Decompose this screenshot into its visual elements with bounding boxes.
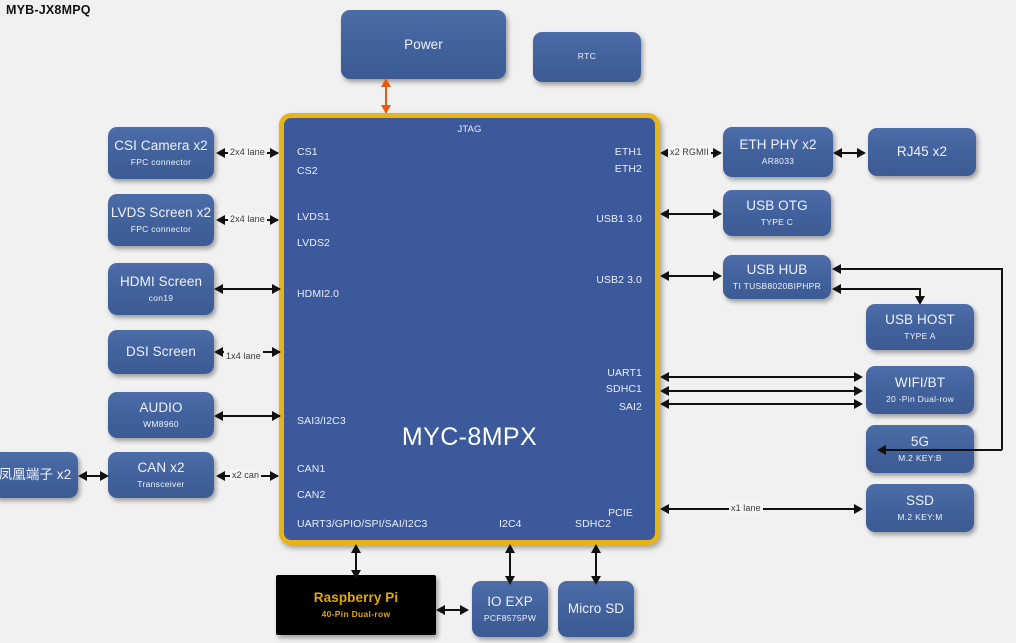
- link-pcie-ssd-label: x1 lane: [729, 502, 763, 514]
- link-hdmi-arrow-right: [272, 284, 281, 294]
- soc-pin-lvds1: LVDS1: [297, 211, 330, 223]
- link-can-arrow-left: [216, 471, 225, 481]
- block-usb-otg-label: USB OTG: [746, 198, 807, 214]
- block-usb-otg-sublabel: TYPE C: [761, 217, 794, 228]
- link-sai2-wifi-arrow-right: [854, 399, 863, 409]
- link-sdhc1-wifi-arrow-right: [854, 386, 863, 396]
- link-csi-label: 2x4 lane: [228, 146, 267, 158]
- block-raspberry-pi[interactable]: Raspberry Pi 40-Pin Dual-row: [276, 575, 436, 635]
- link-hub-host-arrow-left: [832, 284, 841, 294]
- link-pcie-ssd-line: [668, 508, 860, 510]
- block-eth-phy-label: ETH PHY x2: [739, 137, 816, 153]
- link-hdmi-arrow-left: [214, 284, 223, 294]
- link-phoenix-arrow-right: [100, 471, 109, 481]
- link-eth-label: x2 RGMII: [668, 146, 711, 158]
- link-hub-host-arrow-down: [915, 296, 925, 305]
- link-hub-host-hline: [840, 288, 920, 290]
- block-rj45-label: RJ45 x2: [897, 144, 947, 160]
- block-usb-host-sublabel: TYPE A: [904, 331, 936, 342]
- soc-pin-eth2: ETH2: [615, 163, 642, 175]
- link-lvds-label: 2x4 lane: [228, 213, 267, 225]
- block-5g-modem-label: 5G: [911, 434, 929, 450]
- block-csi-camera[interactable]: CSI Camera x2 FPC connector: [108, 127, 214, 179]
- link-hub-5g-vline: [1001, 268, 1003, 450]
- block-can-label: CAN x2: [137, 460, 184, 476]
- block-can-sublabel: Transceiver: [137, 479, 184, 490]
- block-io-exp-sublabel: PCF8575PW: [484, 613, 536, 624]
- link-hub-5g-hbot: [885, 449, 1002, 451]
- soc-pin-sdhc2: SDHC2: [575, 518, 611, 530]
- block-io-exp-label: IO EXP: [487, 594, 533, 610]
- block-usb-hub[interactable]: USB HUB TI TUSB8020BIPHPR: [723, 255, 831, 299]
- soc-pin-sdhc1: SDHC1: [606, 383, 642, 395]
- link-rpi-arrow-up: [351, 544, 361, 553]
- link-usb-otg-arrow-left: [660, 209, 669, 219]
- block-eth-phy-sublabel: AR8033: [762, 156, 795, 167]
- link-hub-5g-htop: [840, 268, 1003, 270]
- link-dsi-arrow-left: [214, 347, 223, 357]
- soc-pin-lvds2: LVDS2: [297, 237, 330, 249]
- link-sai2-wifi-arrow-left: [660, 399, 669, 409]
- link-audio-arrow-left: [214, 411, 223, 421]
- link-uart1-wifi-line: [668, 376, 860, 378]
- block-rtc[interactable]: RTC: [533, 32, 641, 82]
- block-wifi-bt[interactable]: WIFI/BT 20 -Pin Dual-row: [866, 366, 974, 414]
- block-phoenix-terminal-label: 凤凰端子 x2: [0, 467, 71, 483]
- link-lvds-arrow-right: [270, 215, 279, 225]
- block-hdmi-screen[interactable]: HDMI Screen con19: [108, 263, 214, 315]
- soc-pin-usb1: USB1 3.0: [596, 213, 642, 225]
- soc-pin-pcie: PCIE: [608, 507, 633, 519]
- block-dsi-screen[interactable]: DSI Screen: [108, 330, 214, 374]
- link-usb-hub-arrow-left: [660, 271, 669, 281]
- link-hub-5g-arrow-left: [832, 264, 841, 274]
- link-pcie-ssd-arrow-right: [854, 504, 863, 514]
- soc-pin-uart1: UART1: [607, 367, 642, 379]
- block-lvds-screen-sublabel: FPC connector: [131, 224, 192, 235]
- link-audio-arrow-right: [272, 411, 281, 421]
- link-ioexp-arrow-down: [505, 576, 515, 585]
- block-usb-host[interactable]: USB HOST TYPE A: [866, 304, 974, 350]
- block-usb-otg[interactable]: USB OTG TYPE C: [723, 190, 831, 236]
- soc-pin-can1: CAN1: [297, 463, 325, 475]
- block-ssd-label: SSD: [906, 493, 934, 509]
- block-lvds-screen-label: LVDS Screen x2: [111, 205, 211, 221]
- link-rpi-ioexp-arrow-left: [436, 605, 445, 615]
- block-wifi-bt-sublabel: 20 -Pin Dual-row: [886, 394, 954, 405]
- block-audio-sublabel: WM8960: [143, 419, 179, 430]
- link-csi-arrow-left: [216, 148, 225, 158]
- soc-pin-can2: CAN2: [297, 489, 325, 501]
- link-dsi-arrow-right: [272, 347, 281, 357]
- soc-pin-jtag: JTAG: [284, 124, 655, 135]
- page-title: MYB-JX8MPQ: [6, 3, 91, 17]
- block-rj45[interactable]: RJ45 x2: [868, 128, 976, 176]
- link-microsd-arrow-up: [591, 544, 601, 553]
- link-can-label: x2 can: [230, 469, 261, 481]
- link-microsd-arrow-down: [591, 576, 601, 585]
- link-ioexp-arrow-up: [505, 544, 515, 553]
- block-raspberry-pi-label: Raspberry Pi: [314, 590, 399, 606]
- soc-module[interactable]: JTAG CS1 CS2 LVDS1 LVDS2 HDMI2.0 SAI3/I2…: [279, 113, 660, 545]
- link-uart1-wifi-arrow-left: [660, 372, 669, 382]
- link-hub-5g-arrow-in: [877, 445, 886, 455]
- link-phoenix-arrow-left: [78, 471, 87, 481]
- link-pcie-ssd-arrow-left: [660, 504, 669, 514]
- soc-pin-cs1: CS1: [297, 146, 318, 158]
- soc-pin-sai2: SAI2: [619, 401, 642, 413]
- block-rtc-label: RTC: [578, 52, 597, 62]
- block-audio-label: AUDIO: [139, 400, 182, 416]
- block-micro-sd-label: Micro SD: [568, 601, 624, 617]
- diagram-canvas: MYB-JX8MPQ Power RTC JTAG CS1 CS2 LVDS1 …: [0, 0, 1016, 643]
- block-power[interactable]: Power: [341, 10, 506, 79]
- block-audio[interactable]: AUDIO WM8960: [108, 392, 214, 438]
- block-power-label: Power: [404, 37, 443, 53]
- link-sai2-wifi-line: [668, 403, 860, 405]
- block-phoenix-terminal[interactable]: 凤凰端子 x2: [0, 452, 78, 498]
- soc-pin-hdmi: HDMI2.0: [297, 288, 339, 300]
- link-dsi-label: 1x4 lane: [224, 350, 263, 362]
- link-eth-arrow-right: [713, 148, 722, 158]
- link-rj45-arrow-left: [833, 148, 842, 158]
- block-5g-modem-sublabel: M.2 KEY:B: [898, 453, 942, 464]
- link-csi-arrow-right: [270, 148, 279, 158]
- soc-pin-i2c4: I2C4: [499, 518, 522, 530]
- soc-pin-uart3: UART3/GPIO/SPI/SAI/I2C3: [297, 518, 427, 530]
- link-sdhc1-wifi-arrow-left: [660, 386, 669, 396]
- block-can[interactable]: CAN x2 Transceiver: [108, 452, 214, 498]
- block-hdmi-screen-sublabel: con19: [149, 293, 174, 304]
- link-usb-hub-arrow-right: [713, 271, 722, 281]
- block-usb-hub-sublabel: TI TUSB8020BIPHPR: [733, 281, 821, 292]
- power-link-arrow-up: [381, 78, 391, 87]
- link-rpi-ioexp-arrow-right: [460, 605, 469, 615]
- block-raspberry-pi-sublabel: 40-Pin Dual-row: [322, 609, 391, 620]
- block-eth-phy[interactable]: ETH PHY x2 AR8033: [723, 127, 833, 177]
- block-csi-camera-label: CSI Camera x2: [114, 138, 208, 154]
- link-rpi-arrow-down: [351, 570, 361, 579]
- link-uart1-wifi-arrow-right: [854, 372, 863, 382]
- block-io-exp[interactable]: IO EXP PCF8575PW: [472, 581, 548, 637]
- link-rj45-arrow-right: [857, 148, 866, 158]
- block-lvds-screen[interactable]: LVDS Screen x2 FPC connector: [108, 194, 214, 246]
- block-ssd[interactable]: SSD M.2 KEY:M: [866, 484, 974, 532]
- link-can-arrow-right: [270, 471, 279, 481]
- link-sdhc1-wifi-line: [668, 390, 860, 392]
- block-micro-sd[interactable]: Micro SD: [558, 581, 634, 637]
- block-usb-hub-label: USB HUB: [747, 262, 808, 278]
- block-dsi-screen-label: DSI Screen: [126, 344, 196, 360]
- block-usb-host-label: USB HOST: [885, 312, 955, 328]
- link-lvds-arrow-left: [216, 215, 225, 225]
- soc-name-label: MYC-8MPX: [284, 423, 655, 452]
- soc-pin-eth1: ETH1: [615, 146, 642, 158]
- block-hdmi-screen-label: HDMI Screen: [120, 274, 202, 290]
- block-wifi-bt-label: WIFI/BT: [895, 375, 945, 391]
- soc-pin-usb2: USB2 3.0: [596, 274, 642, 286]
- soc-pin-cs2: CS2: [297, 165, 318, 177]
- block-csi-camera-sublabel: FPC connector: [131, 157, 192, 168]
- link-usb-otg-arrow-right: [713, 209, 722, 219]
- block-ssd-sublabel: M.2 KEY:M: [897, 512, 942, 523]
